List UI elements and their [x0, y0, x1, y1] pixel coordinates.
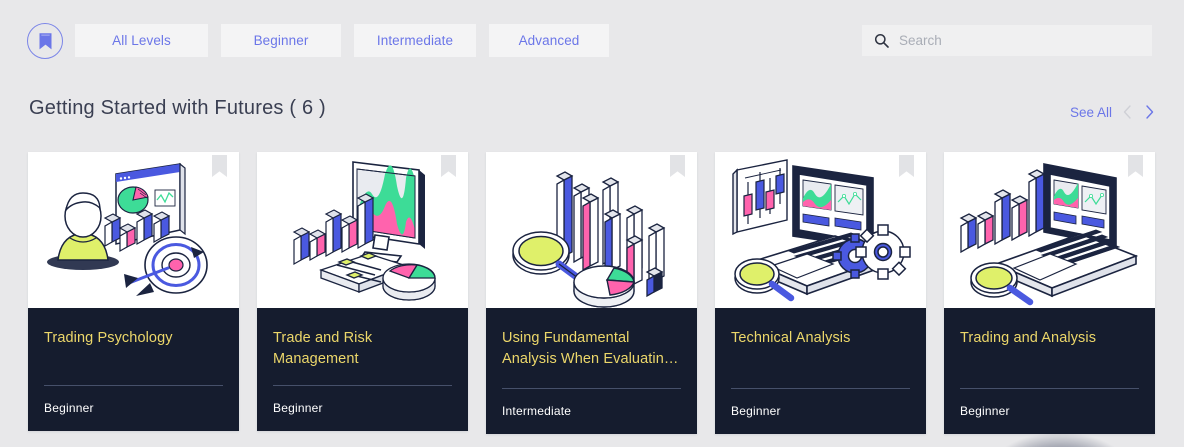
course-level: Beginner — [731, 389, 910, 434]
course-card-body: Technical Analysis Beginner — [715, 308, 926, 434]
course-title: Technical Analysis — [731, 328, 910, 370]
course-title: Using Fundamental Analysis When Evaluati… — [502, 328, 681, 370]
course-title: Trading Psychology — [44, 328, 223, 370]
section-header: Getting Started with Futures ( 6 ) See A… — [0, 95, 1184, 137]
chevron-left-icon[interactable] — [1121, 103, 1134, 121]
course-level: Beginner — [960, 389, 1139, 434]
bookmark-icon — [38, 32, 53, 51]
saved-bookmarks-button[interactable] — [27, 23, 63, 59]
level-tab-all-levels[interactable]: All Levels — [75, 24, 208, 57]
see-all-link[interactable]: See All — [1070, 105, 1112, 120]
search-icon — [874, 33, 889, 48]
course-thumbnail — [486, 152, 697, 308]
level-tab-intermediate[interactable]: Intermediate — [354, 24, 476, 57]
course-card-row: Trading Psychology Beginner — [0, 152, 1184, 447]
course-thumbnail — [715, 152, 926, 308]
card-bookmark-icon[interactable] — [670, 155, 685, 177]
search-input[interactable] — [899, 33, 1140, 48]
course-card[interactable]: Using Fundamental Analysis When Evaluati… — [486, 152, 697, 434]
illustration-bar-chart-with-magnifier-and-pie — [486, 152, 697, 308]
level-tab-beginner[interactable]: Beginner — [221, 24, 341, 57]
card-bookmark-icon[interactable] — [1128, 155, 1143, 177]
course-title: Trade and Risk Management — [273, 328, 452, 370]
course-thumbnail — [944, 152, 1155, 308]
course-card[interactable]: Trading and Analysis Beginner — [944, 152, 1155, 434]
course-card[interactable]: Trading Psychology Beginner — [28, 152, 239, 431]
course-card-body: Trading and Analysis Beginner — [944, 308, 1155, 434]
illustration-monitor-area-chart-with-bars-and-pie — [257, 152, 468, 308]
level-filter-tabs: All Levels Beginner Intermediate Advance… — [75, 24, 609, 57]
card-bookmark-icon[interactable] — [441, 155, 456, 177]
chevron-right-icon[interactable] — [1143, 103, 1156, 121]
course-card-body: Trading Psychology Beginner — [28, 308, 239, 431]
section-controls: See All — [1070, 103, 1156, 121]
course-level: Intermediate — [502, 389, 681, 434]
course-thumbnail — [257, 152, 468, 308]
illustration-person-with-dashboard-and-target — [28, 152, 239, 308]
course-card[interactable]: Technical Analysis Beginner — [715, 152, 926, 434]
illustration-laptop-with-bars-and-magnifier — [944, 152, 1155, 308]
filter-toolbar: All Levels Beginner Intermediate Advance… — [0, 0, 1184, 80]
course-thumbnail — [28, 152, 239, 308]
level-tab-advanced[interactable]: Advanced — [489, 24, 609, 57]
illustration-laptop-candlesticks-gears-magnifier — [715, 152, 926, 308]
page-root: All Levels Beginner Intermediate Advance… — [0, 0, 1184, 447]
course-level: Beginner — [273, 386, 452, 431]
search-box[interactable] — [862, 25, 1152, 56]
card-bookmark-icon[interactable] — [899, 155, 914, 177]
section-title: Getting Started with Futures ( 6 ) — [29, 97, 326, 120]
card-bookmark-icon[interactable] — [212, 155, 227, 177]
course-card[interactable]: Trade and Risk Management Beginner — [257, 152, 468, 431]
course-card-body: Using Fundamental Analysis When Evaluati… — [486, 308, 697, 434]
course-card-body: Trade and Risk Management Beginner — [257, 308, 468, 431]
course-title: Trading and Analysis — [960, 328, 1139, 370]
course-level: Beginner — [44, 386, 223, 431]
